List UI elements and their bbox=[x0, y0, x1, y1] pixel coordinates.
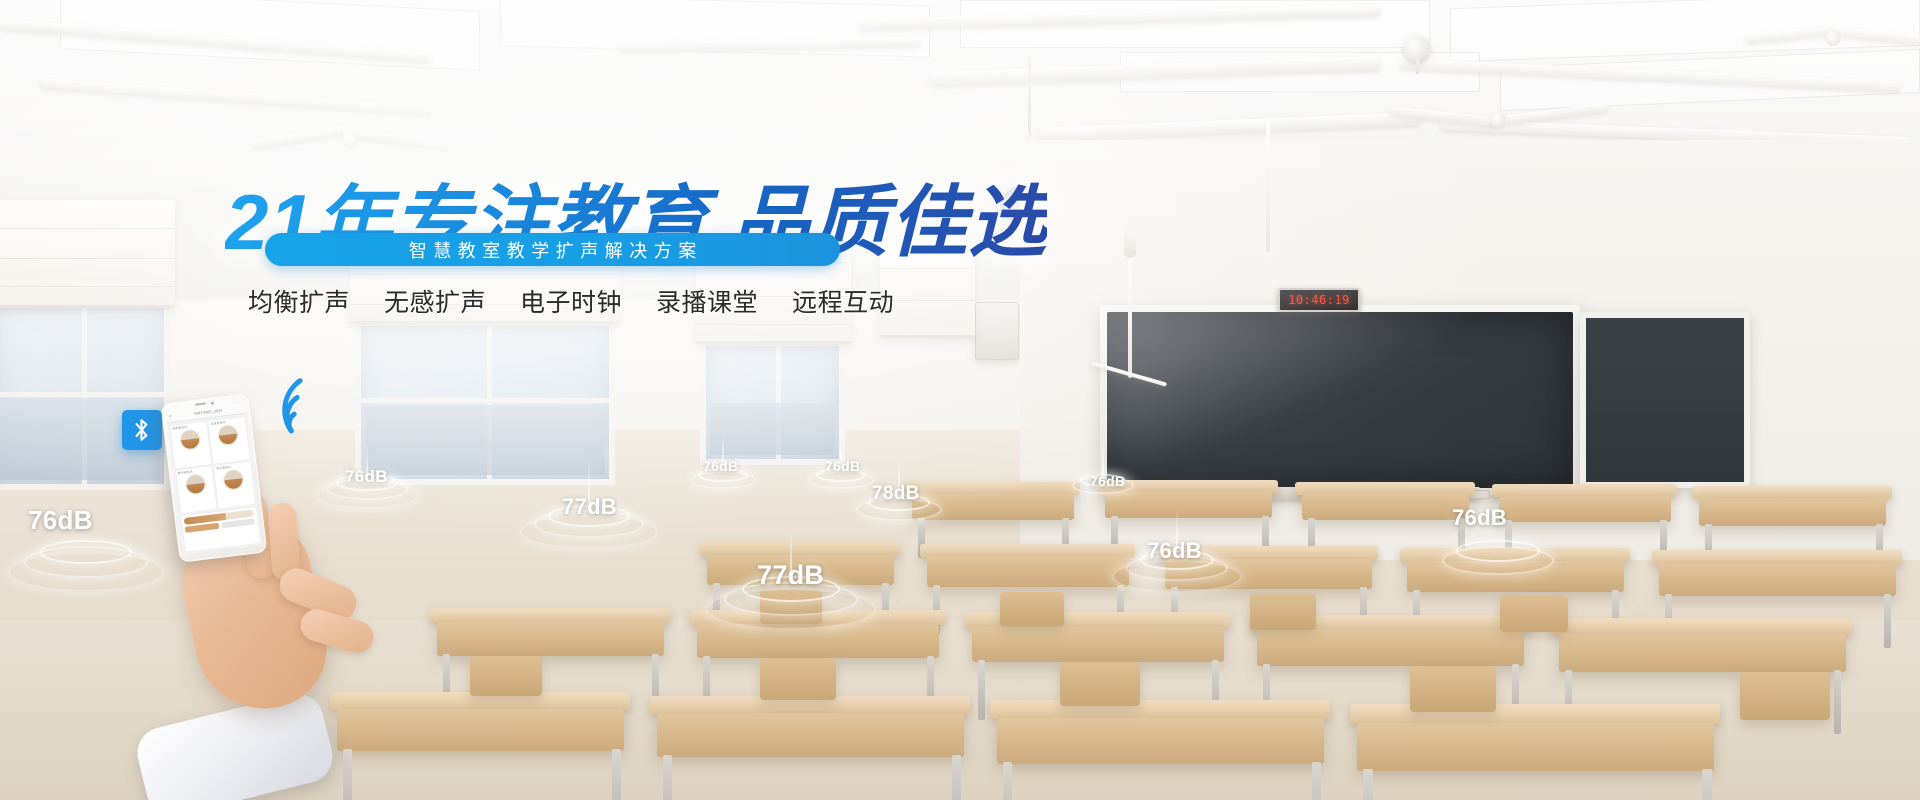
chair bbox=[470, 656, 542, 696]
knob-dial[interactable] bbox=[223, 468, 245, 490]
phone-action-button[interactable] bbox=[185, 523, 219, 533]
desk bbox=[430, 608, 670, 623]
desk bbox=[1357, 723, 1714, 771]
chair bbox=[1410, 666, 1496, 712]
window-blind bbox=[0, 200, 175, 308]
desk bbox=[1552, 618, 1852, 635]
desk bbox=[1105, 492, 1272, 518]
phone-card[interactable]: 学生麦克风 bbox=[214, 462, 255, 509]
camera-dome-icon bbox=[1404, 36, 1430, 62]
desk bbox=[1559, 634, 1846, 672]
desk bbox=[972, 627, 1224, 662]
desk bbox=[1302, 494, 1469, 520]
desk bbox=[697, 624, 939, 658]
desk bbox=[1257, 630, 1524, 666]
subtitle-pill: 智慧教室教学扩声解决方案 bbox=[265, 233, 840, 266]
wall-control-box bbox=[975, 302, 1019, 360]
mic-stand bbox=[1266, 120, 1270, 252]
desk bbox=[997, 718, 1324, 764]
phone-in-hand: ‹ WRT3960_264# 前置麦克风 后置麦克风 教师麦克风 bbox=[150, 390, 450, 800]
chair bbox=[1500, 596, 1568, 632]
phone-screen[interactable]: ‹ WRT3960_264# 前置麦克风 后置麦克风 教师麦克风 bbox=[166, 403, 263, 555]
db-marker: 77dB bbox=[757, 560, 824, 591]
phone-speaker-grill bbox=[195, 402, 206, 405]
bluetooth-icon[interactable] bbox=[122, 410, 162, 450]
wifi-waves-icon bbox=[265, 378, 327, 438]
knob-dial[interactable] bbox=[217, 423, 239, 445]
db-marker: 76dB bbox=[28, 505, 93, 536]
subtitle-text: 智慧教室教学扩声解决方案 bbox=[402, 237, 703, 263]
chair bbox=[1740, 672, 1830, 720]
feature-item-3: 录播课堂 bbox=[656, 283, 758, 319]
banner-stage: 10:46:19 bbox=[0, 0, 1920, 800]
volume-slider[interactable] bbox=[181, 507, 260, 552]
smartphone[interactable]: ‹ WRT3960_264# 前置麦克风 后置麦克风 教师麦克风 bbox=[161, 393, 268, 563]
wall-digital-clock: 10:46:19 bbox=[1278, 288, 1360, 312]
desk bbox=[1659, 564, 1896, 596]
feature-item-4: 远程互动 bbox=[792, 283, 894, 319]
mic-head bbox=[1124, 232, 1136, 258]
db-marker: 76dB bbox=[1090, 473, 1125, 489]
ceiling-fan bbox=[1390, 96, 1605, 144]
phone-card[interactable]: 教师麦克风 bbox=[175, 466, 216, 513]
phone-card[interactable]: 后置麦克风 bbox=[208, 416, 249, 463]
desk bbox=[927, 557, 1129, 587]
desk bbox=[437, 622, 664, 656]
feature-item-1: 无感扩声 bbox=[384, 283, 486, 319]
db-marker: 76dB bbox=[1452, 505, 1507, 531]
phone-nav-title: WRT3960_264# bbox=[194, 408, 223, 415]
phone-card-grid: 前置麦克风 后置麦克风 教师麦克风 学生麦克风 bbox=[167, 414, 262, 555]
feature-list: 均衡扩声 无感扩声 电子时钟 录播课堂 远程互动 bbox=[248, 283, 894, 319]
feature-item-0: 均衡扩声 bbox=[248, 283, 350, 319]
chevron-left-icon[interactable]: ‹ bbox=[169, 414, 172, 420]
desk bbox=[1350, 704, 1720, 724]
desk bbox=[920, 544, 1135, 558]
desk bbox=[657, 713, 964, 757]
desk bbox=[990, 700, 1330, 719]
clock-time: 10:46:19 bbox=[1288, 293, 1350, 307]
chair bbox=[1060, 662, 1140, 706]
mic-stand bbox=[1128, 248, 1132, 378]
ceiling-fan bbox=[1745, 18, 1920, 58]
desk bbox=[1499, 496, 1671, 522]
shirt-sleeve bbox=[132, 688, 338, 800]
knob-dial[interactable] bbox=[179, 428, 201, 450]
desk bbox=[700, 542, 900, 556]
chair bbox=[1250, 594, 1316, 630]
chair bbox=[1000, 592, 1064, 626]
ceiling-fan bbox=[250, 118, 450, 162]
db-marker: 76dB bbox=[1147, 538, 1202, 564]
chair bbox=[760, 658, 836, 700]
db-marker: 77dB bbox=[562, 494, 617, 520]
knob-dial[interactable] bbox=[184, 473, 206, 495]
db-marker: 76dB bbox=[825, 458, 860, 474]
feature-item-2: 电子时钟 bbox=[520, 283, 622, 319]
phone-camera bbox=[211, 401, 214, 404]
phone-action-button[interactable] bbox=[221, 518, 255, 528]
desk bbox=[1652, 550, 1902, 565]
db-marker: 76dB bbox=[703, 458, 738, 474]
phone-card[interactable]: 前置麦克风 bbox=[170, 421, 211, 468]
desk bbox=[1699, 498, 1886, 526]
db-marker: 78dB bbox=[872, 483, 920, 505]
